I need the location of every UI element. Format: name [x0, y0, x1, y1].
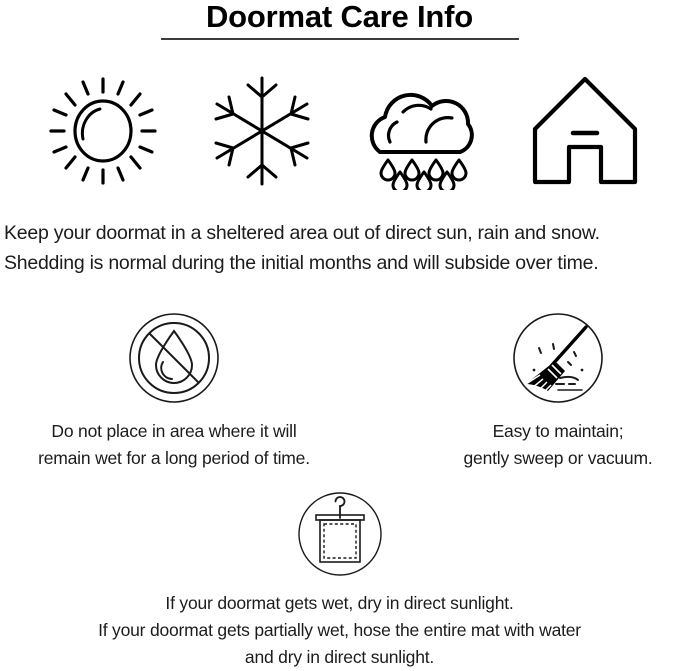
title-underline-divider — [161, 38, 519, 40]
care-item-no-standing-water: Do not place in area where it will remai… — [24, 312, 324, 472]
hanging-mat-icon — [298, 492, 382, 576]
intro-line-2: Shedding is normal during the initial mo… — [4, 248, 679, 278]
header: Doormat Care Info — [0, 0, 679, 40]
page-title: Doormat Care Info — [0, 0, 679, 34]
rain-cloud-icon — [355, 72, 485, 190]
caption-line-1: Easy to maintain; — [408, 418, 679, 445]
caption-line-1: Do not place in area where it will — [24, 418, 324, 445]
broom-icon — [512, 312, 604, 404]
sun-icon — [38, 72, 168, 190]
caption-line-2: remain wet for a long period of time. — [24, 445, 324, 472]
intro-line-1: Keep your doormat in a sheltered area ou… — [4, 218, 679, 248]
drying-line-2: If your doormat gets partially wet, hose… — [0, 617, 679, 644]
care-item-caption: Do not place in area where it will remai… — [24, 418, 324, 472]
house-icon — [520, 72, 650, 190]
snowflake-icon — [197, 72, 327, 190]
drying-line-3: and dry in direct sunlight. — [0, 644, 679, 671]
weather-icon-row — [0, 72, 679, 192]
intro-paragraph: Keep your doormat in a sheltered area ou… — [4, 218, 679, 278]
drying-line-1: If your doormat gets wet, dry in direct … — [0, 590, 679, 617]
care-item-easy-maintain: Easy to maintain; gently sweep or vacuum… — [408, 312, 679, 472]
drying-instructions: If your doormat gets wet, dry in direct … — [0, 492, 679, 671]
doormat-care-info-page: Doormat Care Info — [0, 0, 679, 655]
care-item-caption: Easy to maintain; gently sweep or vacuum… — [408, 418, 679, 472]
no-water-icon — [128, 312, 220, 404]
drying-caption: If your doormat gets wet, dry in direct … — [0, 590, 679, 671]
caption-line-2: gently sweep or vacuum. — [408, 445, 679, 472]
